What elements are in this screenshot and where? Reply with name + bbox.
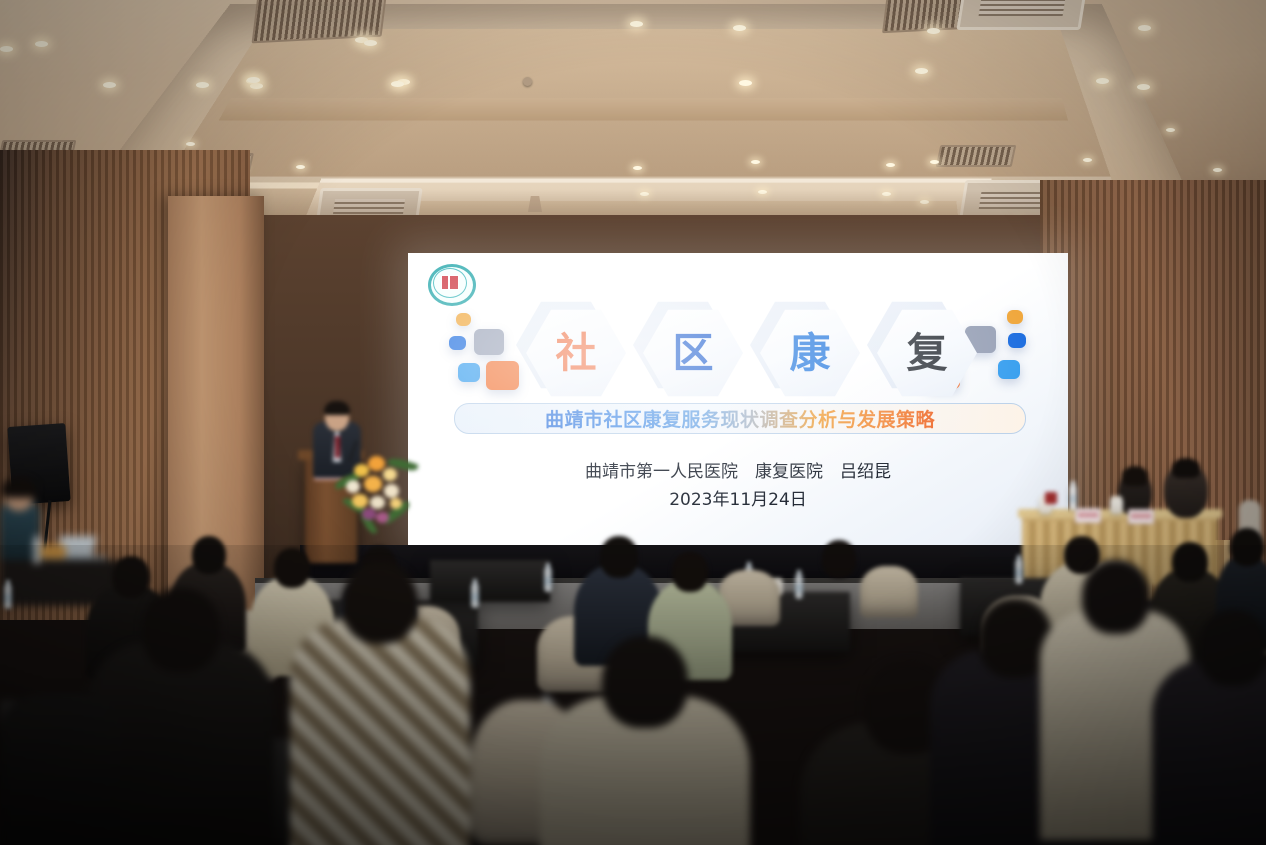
- air-vent-icon: [936, 145, 1017, 167]
- name-card: [1128, 509, 1154, 524]
- name-card: [1075, 508, 1101, 523]
- operator-hair: [2, 478, 36, 498]
- water-bottle: [544, 568, 552, 592]
- flower-arrangement: [338, 446, 410, 534]
- projection-screen: 社 区 康 复 曲靖市社区康复服务现状调查分析与发展策略 曲靖市第: [408, 253, 1068, 545]
- hexagon-char-1: 社: [556, 333, 597, 374]
- screenshot-root: 社 区 康 复 曲靖市社区康复服务现状调查分析与发展策略 曲靖市第: [0, 0, 1266, 845]
- water-bottle: [471, 584, 479, 608]
- hexagon-row: 社 区 康 复: [408, 305, 1068, 403]
- hexagon-char-2: 区: [673, 333, 714, 374]
- water-bottle: [4, 585, 12, 609]
- ceiling-cornice-trim: [219, 98, 1068, 121]
- head-table-person-hair: [1172, 458, 1200, 478]
- red-object: [1045, 492, 1057, 504]
- water-bottle: [1069, 486, 1077, 510]
- smoke-detector-icon: [523, 77, 532, 86]
- air-vent-icon: [252, 0, 388, 43]
- slide-presenter-line: 曲靖市第一人民医院 康复医院 吕绍昆: [408, 457, 1068, 482]
- ac-cassette: [956, 0, 1087, 30]
- slide-date-line: 2023年11月24日: [408, 485, 1068, 510]
- slide-title: 曲靖市社区康复服务现状调查分析与发展策略: [545, 405, 935, 432]
- head-table-person-hair: [1122, 466, 1148, 486]
- presenter-hair: [324, 401, 350, 415]
- hexagon-char-3: 康: [790, 333, 831, 374]
- hexagon-char-4: 复: [907, 333, 948, 374]
- slide-surface: 社 区 康 复 曲靖市社区康复服务现状调查分析与发展策略 曲靖市第: [408, 253, 1068, 545]
- fruit-plate: [40, 545, 66, 559]
- paper-cup: [1110, 499, 1123, 514]
- slide-title-bar: 曲靖市社区康复服务现状调查分析与发展策略: [454, 403, 1026, 434]
- hospital-logo-icon: [428, 264, 470, 300]
- audience-table: [430, 560, 550, 602]
- water-bottle: [1015, 560, 1023, 584]
